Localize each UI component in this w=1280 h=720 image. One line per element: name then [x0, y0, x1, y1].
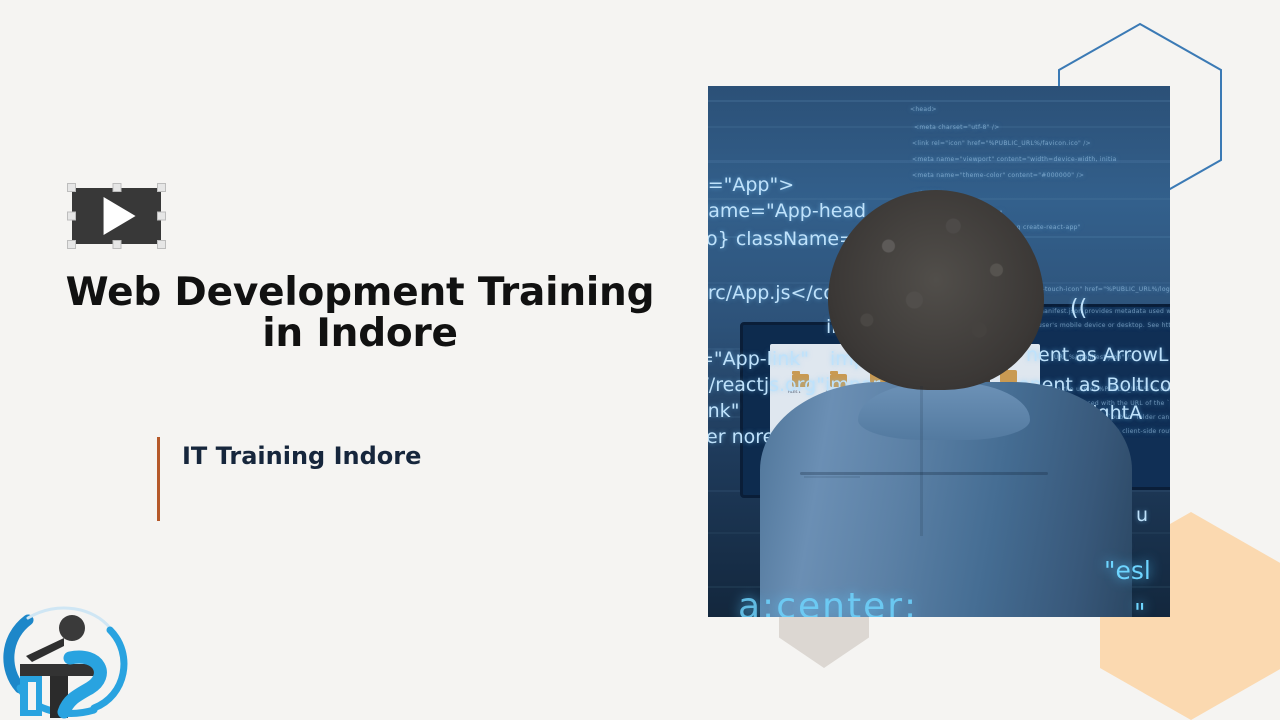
hero-photo: FILES 1 FILES 2 FILES 3 FILES 4 FILES 5 …: [708, 86, 1170, 617]
code-line: ((: [1070, 296, 1087, 321]
resize-handle-bottom-right[interactable]: [157, 240, 166, 249]
code-line: manifest.json provides metadata used whe…: [1038, 308, 1170, 315]
code-line: e="App">: [708, 174, 794, 196]
slide-subtitle: IT Training Indore: [182, 442, 421, 470]
code-line: user's mobile device or desktop. See htt…: [1038, 322, 1170, 329]
code-line: "esl: [1104, 556, 1151, 585]
code-line: <meta name="viewport" content="width=dev…: [912, 156, 1117, 163]
play-triangle-icon: [103, 197, 135, 235]
resize-handle-bottom-center[interactable]: [112, 240, 121, 249]
video-play-button[interactable]: [68, 184, 165, 248]
resize-handle-middle-left[interactable]: [67, 212, 76, 221]
code-line: <meta name="theme-color" content="#00000…: [912, 172, 1084, 179]
code-line: ": [1134, 598, 1146, 617]
code-line: nent as ArrowL: [1026, 344, 1168, 366]
resize-handle-bottom-left[interactable]: [67, 240, 76, 249]
code-line: ank": [708, 400, 739, 422]
code-line: <link rel="icon" href="%PUBLIC_URL%/favi…: [912, 140, 1091, 147]
resize-handle-middle-right[interactable]: [157, 212, 166, 221]
subtitle-block: IT Training Indore: [157, 437, 421, 521]
resize-handle-top-center[interactable]: [112, 183, 121, 192]
code-line: ="App-link": [708, 348, 809, 370]
slide-canvas: FILES 1 FILES 2 FILES 3 FILES 4 FILES 5 …: [0, 0, 1280, 720]
resize-handle-top-right[interactable]: [157, 183, 166, 192]
brand-logo: [0, 584, 138, 720]
code-line-bottom: a:center;: [738, 586, 918, 617]
code-line: Name="App-head: [708, 200, 866, 222]
play-button-surface[interactable]: [72, 188, 161, 244]
code-line: src/App.js</co: [708, 282, 835, 304]
code-line: <head>: [910, 106, 937, 113]
accent-bar: [157, 437, 160, 521]
code-line: <meta charset="utf-8" />: [914, 124, 1000, 131]
logo-dot: [59, 615, 85, 641]
slide-title: Web Development Training in Indore: [58, 272, 662, 355]
resize-handle-top-left[interactable]: [67, 183, 76, 192]
